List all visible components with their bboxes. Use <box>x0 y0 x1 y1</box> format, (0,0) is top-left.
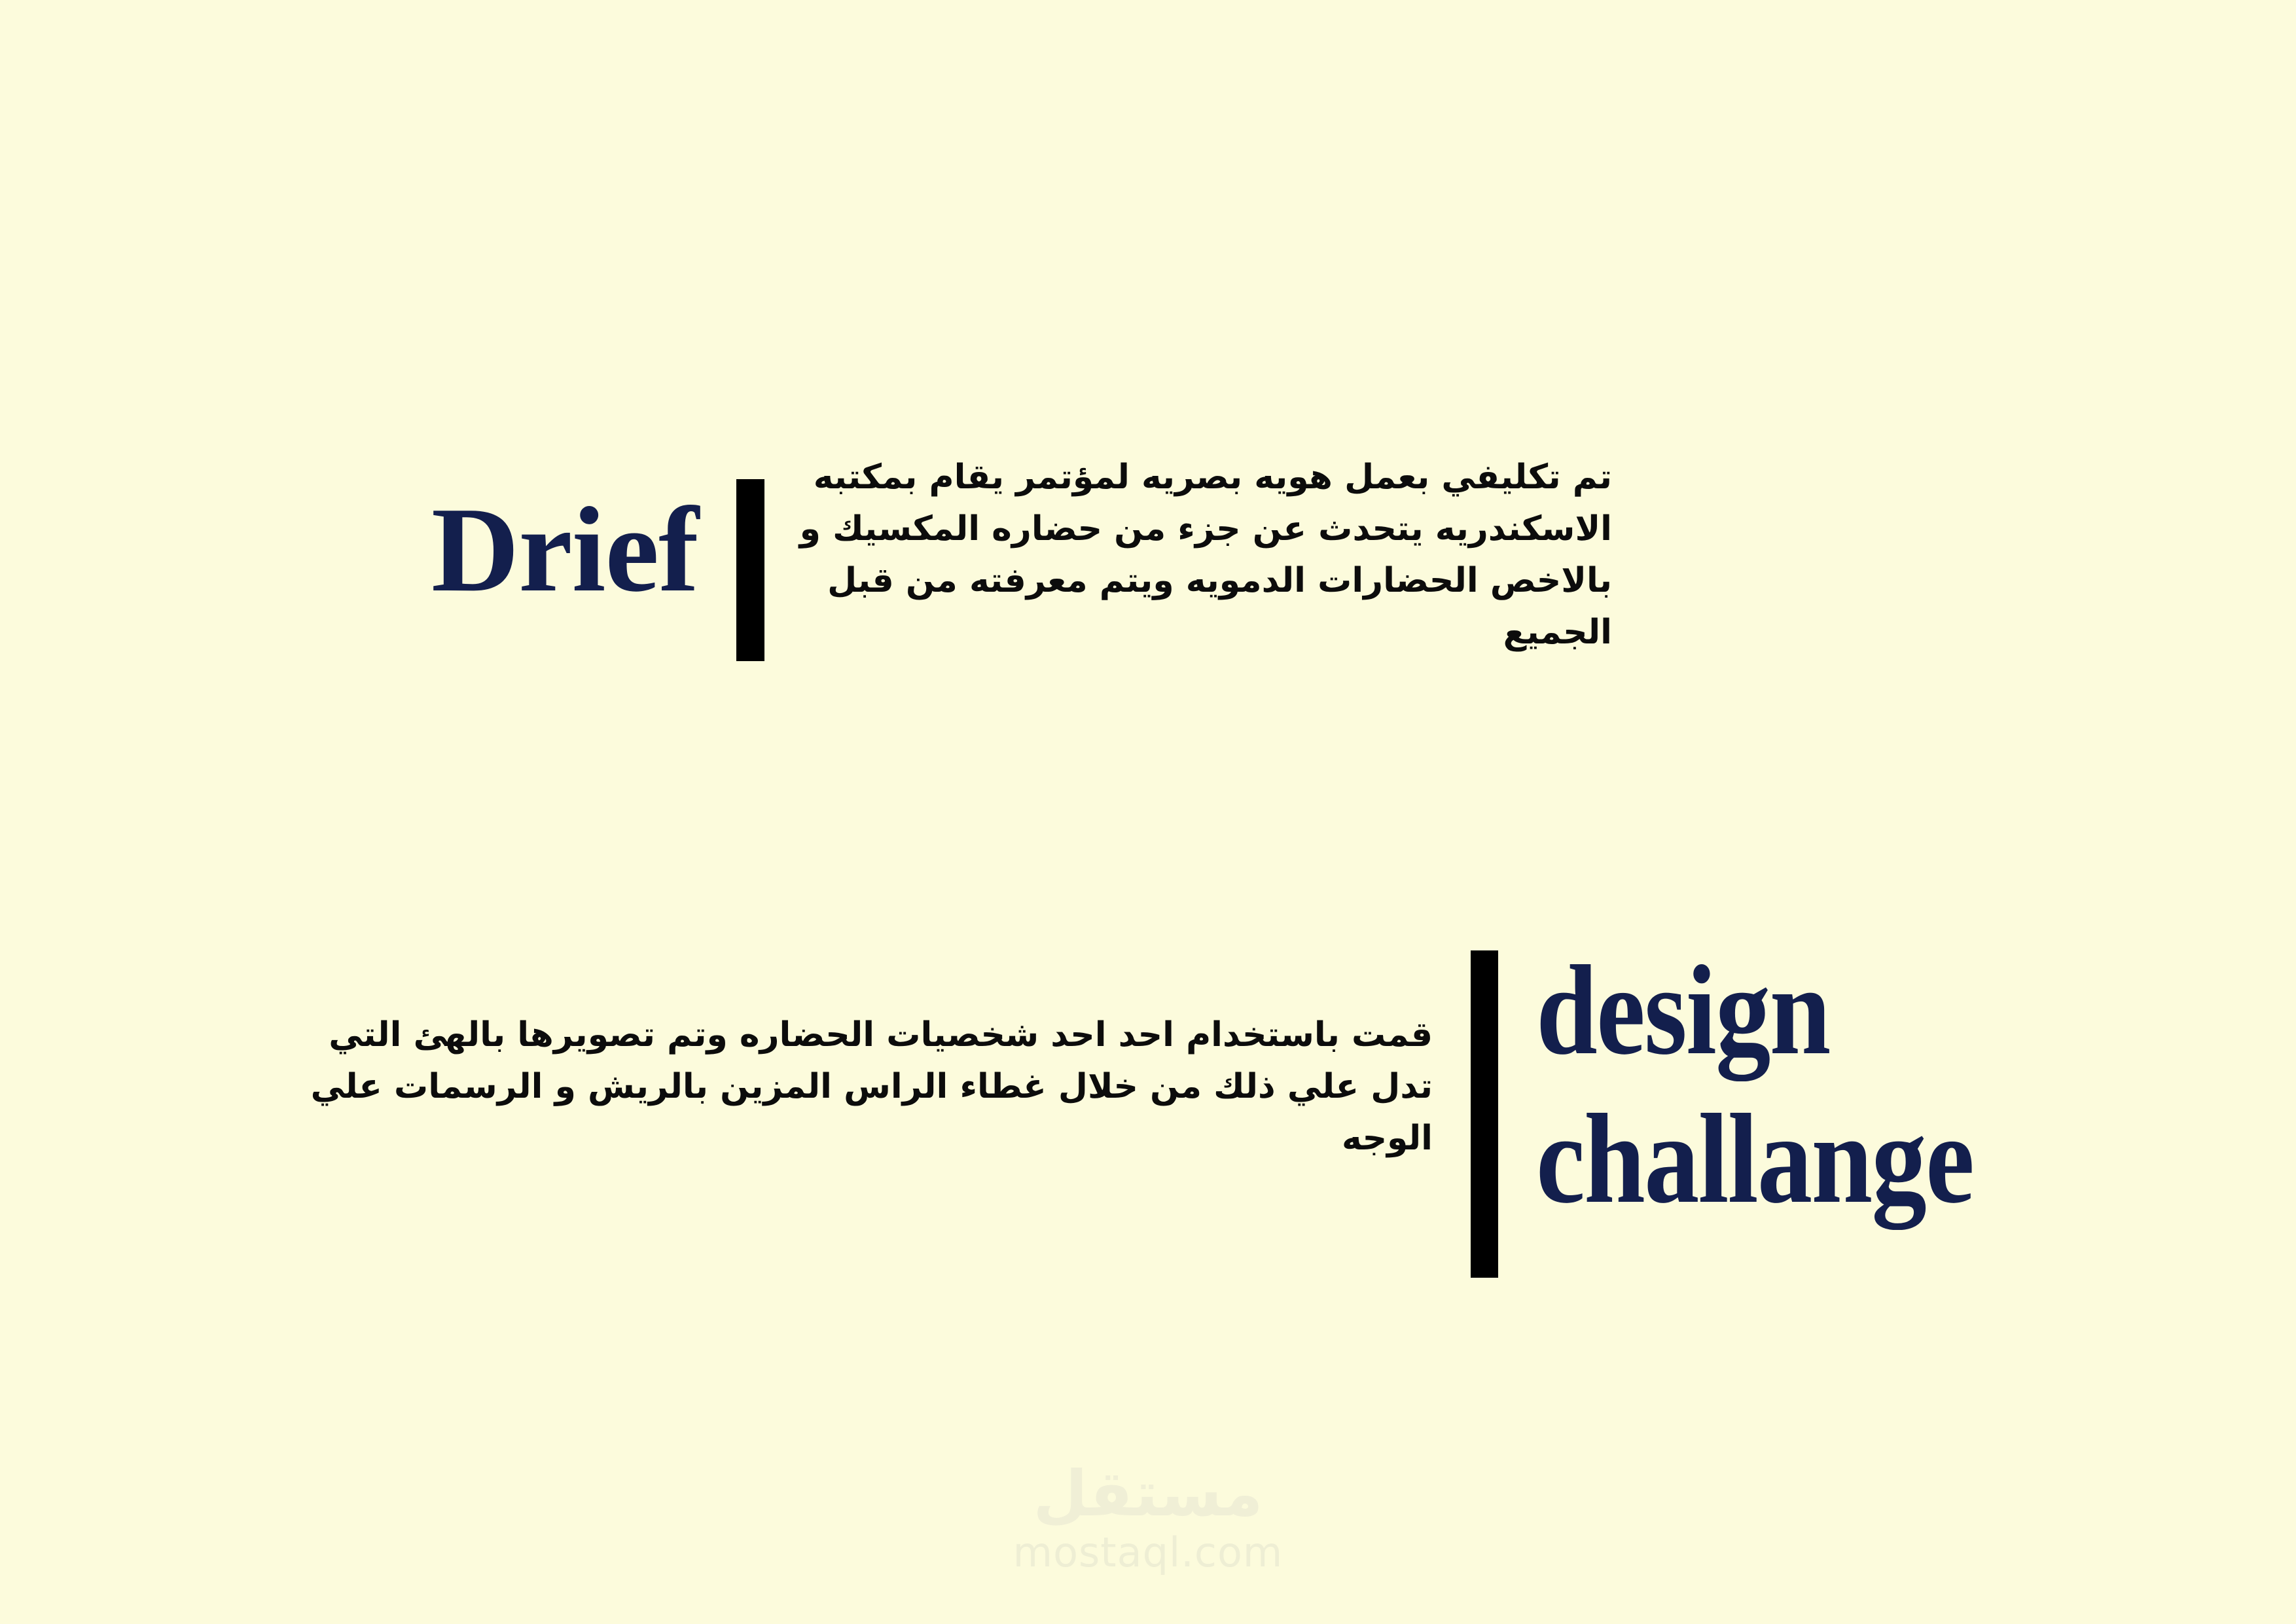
brief-body-container: تم تكليفي بعمل هويه بصريه لمؤتمر يقام بم… <box>764 452 1952 659</box>
poster-page: Drief تم تكليفي بعمل هويه بصريه لمؤتمر ي… <box>0 0 2296 1624</box>
brief-body-text: تم تكليفي بعمل هويه بصريه لمؤتمر يقام بم… <box>792 452 1612 659</box>
brief-title: Drief <box>431 489 698 611</box>
mostaql-logo-mark: مستقل <box>1033 1461 1263 1527</box>
brief-divider-rule <box>736 479 764 661</box>
brief-title-container: Drief <box>0 452 736 648</box>
challenge-title-line-1: design <box>1536 936 1830 1085</box>
challenge-body-container: قمت باستخدام احد احد شخصيات الحضاره وتم … <box>0 936 1471 1164</box>
challenge-title-line-2: challange <box>1536 1085 1973 1233</box>
challenge-title-container: design challange <box>1498 936 2296 1234</box>
mostaql-watermark: مستقل mostaql.com <box>0 1461 2296 1573</box>
challenge-body-text: قمت باستخدام احد احد شخصيات الحضاره وتم … <box>255 1009 1433 1164</box>
design-challenge-section: قمت باستخدام احد احد شخصيات الحضاره وتم … <box>0 936 2296 1303</box>
brief-section: Drief تم تكليفي بعمل هويه بصريه لمؤتمر ي… <box>0 452 2296 674</box>
challenge-divider-rule <box>1471 950 1498 1278</box>
mostaql-domain-text: mostaql.com <box>1013 1532 1283 1573</box>
